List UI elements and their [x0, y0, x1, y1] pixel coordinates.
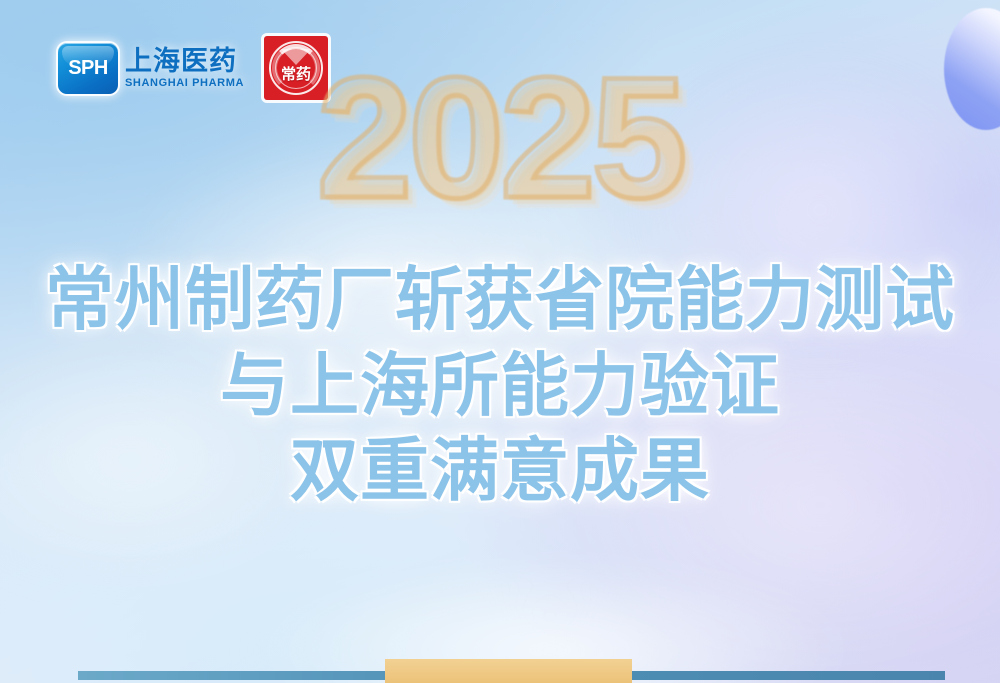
headline-block: 常州制药厂斩获省院能力测试 与上海所能力验证 双重满意成果: [0, 258, 1000, 515]
headline-line-3: 双重满意成果: [0, 429, 1000, 515]
headline-line-2: 与上海所能力验证: [0, 344, 1000, 430]
year-graphic: 2025: [0, 52, 1000, 224]
poster-canvas: SPH 上海医药 SHANGHAI PHARMA 常药 2025 常州制药厂斩获…: [0, 0, 1000, 683]
headline-line-1: 常州制药厂斩获省院能力测试: [0, 258, 1000, 344]
bottom-rule-gold-accent: [385, 659, 632, 683]
changyao-seal-text: 常药: [281, 63, 311, 84]
